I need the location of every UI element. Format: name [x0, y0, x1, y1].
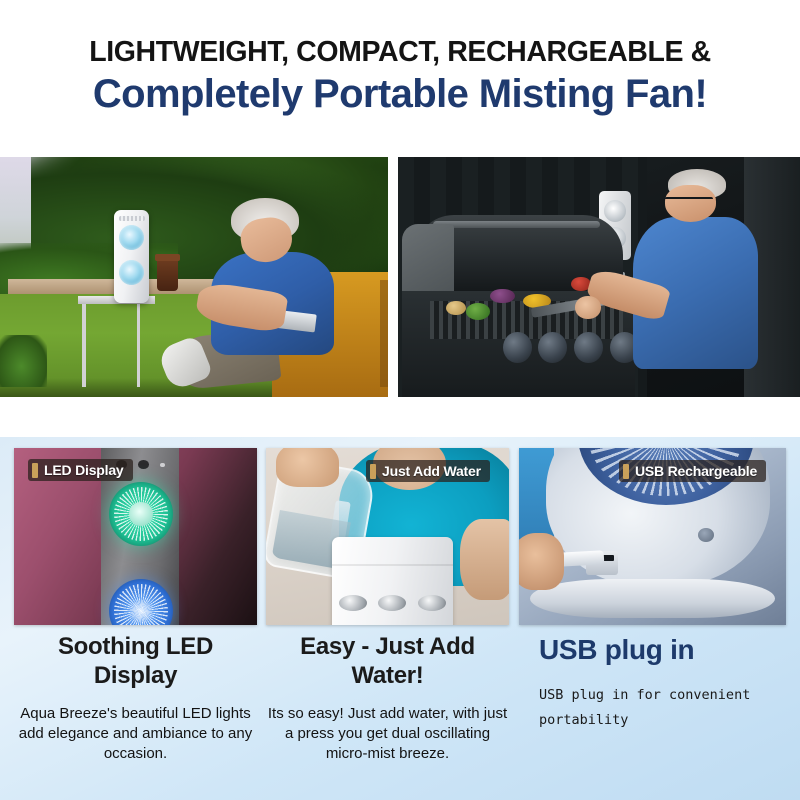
- fan-ring-upper: [119, 225, 144, 250]
- woman-figure: [190, 198, 361, 397]
- feature-image-row: LED Display Just Add Wat: [0, 448, 800, 625]
- grill-handle: [433, 221, 600, 228]
- fan-ring-lower: [119, 260, 144, 285]
- control-dot: [138, 460, 149, 469]
- person-arm: [460, 519, 509, 600]
- feature-card-image-usb: USB Rechargeable: [519, 448, 786, 625]
- feature-card-image-led: LED Display: [14, 448, 257, 625]
- fan-button: [339, 595, 367, 611]
- headline-line-1: LIGHTWEIGHT, COMPACT, RECHARGEABLE &: [89, 38, 711, 68]
- badge-accent-bar: [623, 464, 629, 479]
- fan-hub: [129, 502, 153, 526]
- feature-title: Easy - Just Add Water!: [266, 633, 509, 691]
- badge-just-add-water: Just Add Water: [366, 460, 490, 482]
- man-glasses: [665, 197, 713, 204]
- grill-knob: [503, 332, 532, 363]
- hand-plugging-cable: [519, 533, 564, 590]
- chair-slat: [380, 280, 388, 387]
- feature-card-image-water: Just Add Water: [266, 448, 509, 625]
- man-figure: [623, 167, 784, 397]
- hand-holding-pitcher: [276, 448, 339, 487]
- fan-base-plate: [530, 579, 776, 618]
- badge-label: Just Add Water: [382, 463, 481, 479]
- top-photo-row: [0, 157, 800, 397]
- table-leg-left: [82, 304, 86, 387]
- misting-fan-product: [114, 210, 149, 304]
- badge-usb-rechargeable: USB Rechargeable: [619, 460, 766, 482]
- badge-label: LED Display: [44, 462, 124, 478]
- shrub: [0, 335, 47, 388]
- fan-button: [378, 595, 406, 611]
- headline-line-2: Completely Portable Misting Fan!: [93, 72, 707, 117]
- grill-knob: [574, 332, 603, 363]
- fan-button: [418, 595, 446, 611]
- fan-vent: [119, 216, 146, 221]
- feature-body: Its so easy! Just add water, with just a…: [266, 704, 509, 765]
- badge-accent-bar: [370, 464, 376, 479]
- feature-title: USB plug in: [539, 633, 786, 667]
- badge-led-display: LED Display: [28, 459, 133, 481]
- feature-text-usb: USB plug in USB plug in for convenient p…: [519, 633, 786, 733]
- housing-vent-hole: [698, 528, 714, 542]
- feature-body: Aqua Breeze's beautiful LED lights add e…: [14, 704, 257, 765]
- badge-accent-bar: [32, 463, 38, 478]
- fan-water-reservoir: [332, 537, 454, 626]
- fan-buttons: [339, 595, 446, 611]
- control-indicator: [160, 463, 165, 468]
- feature-body: USB plug in for convenient portability: [539, 683, 786, 733]
- grill-knob: [538, 332, 567, 363]
- table-leg-right: [137, 304, 141, 387]
- feature-section: LED Display Just Add Wat: [0, 437, 800, 800]
- drink-cup: [157, 258, 178, 292]
- reservoir-seam: [332, 564, 454, 566]
- headline-block: LIGHTWEIGHT, COMPACT, RECHARGEABLE & Com…: [0, 0, 800, 155]
- feature-text-water: Easy - Just Add Water! Its so easy! Just…: [266, 633, 509, 765]
- woman-relaxing-in-garden-with-misting-fan: [0, 157, 388, 397]
- grilled-vegetable: [490, 289, 514, 303]
- green-led-fan-blades: [109, 482, 173, 546]
- cup-lid: [155, 254, 180, 261]
- feature-text-led: Soothing LED Display Aqua Breeze's beaut…: [14, 633, 257, 765]
- side-table: [78, 296, 156, 387]
- feature-title: Soothing LED Display: [14, 633, 257, 691]
- grill-control-knobs: [503, 332, 640, 363]
- man-grilling-with-misting-fan: [398, 157, 800, 397]
- man-hand: [575, 296, 601, 319]
- fan-blade-pattern: [114, 584, 168, 625]
- feature-text-row: Soothing LED Display Aqua Breeze's beaut…: [0, 633, 800, 800]
- badge-label: USB Rechargeable: [635, 463, 757, 479]
